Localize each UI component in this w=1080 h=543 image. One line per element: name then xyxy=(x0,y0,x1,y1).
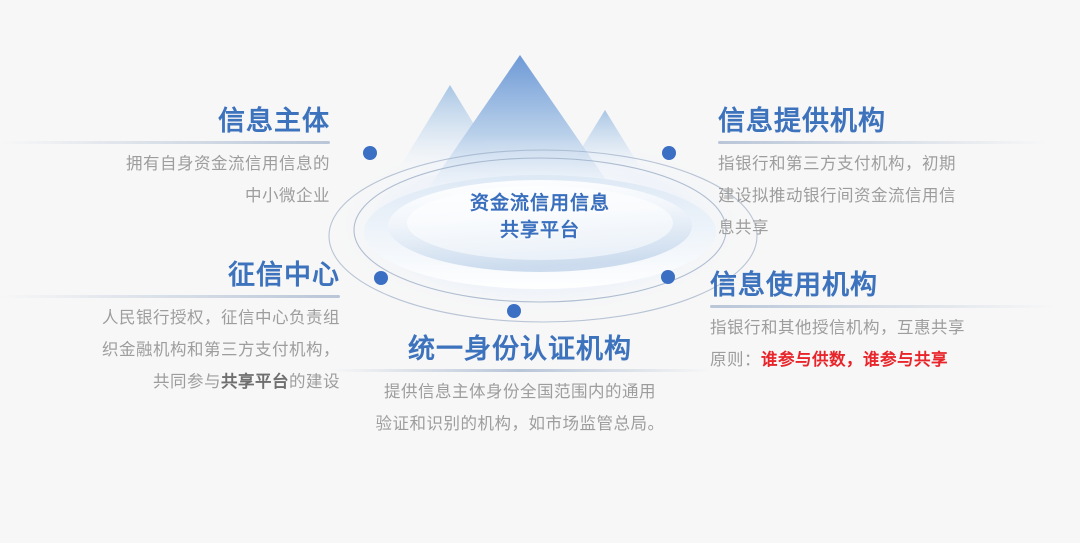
title-underline xyxy=(718,141,1048,144)
platform-title-line1: 资金流信用信息 xyxy=(300,190,780,217)
title-underline xyxy=(330,369,710,372)
desc-line: 人民银行授权，征信中心负责组 xyxy=(0,302,340,334)
block-unified-identity-authentication: 统一身份认证机构 提供信息主体身份全国范围内的通用 验证和识别的机构，如市场监管… xyxy=(330,332,710,440)
title-underline xyxy=(0,141,330,144)
desc-line: 提供信息主体身份全国范围内的通用 xyxy=(330,376,710,408)
desc-highlight: 谁参与供数，谁参与共享 xyxy=(761,350,948,369)
title-underline xyxy=(0,295,340,298)
block-description-unified-identity-authentication: 提供信息主体身份全国范围内的通用 验证和识别的机构，如市场监管总局。 xyxy=(330,376,710,440)
desc-line: 指银行和其他授信机构，互惠共享 xyxy=(710,312,1055,344)
block-description-credit-reference-center: 人民银行授权，征信中心负责组 织金融机构和第三方支付机构， 共同参与共享平台的建… xyxy=(0,302,340,398)
block-information-user: 信息使用机构 指银行和其他授信机构，互惠共享 原则：谁参与供数，谁参与共享 xyxy=(710,268,1055,376)
desc-line: 验证和识别的机构，如市场监管总局。 xyxy=(330,408,710,440)
desc-line: 织金融机构和第三方支付机构， xyxy=(0,334,340,366)
desc-line: 拥有自身资金流信用信息的 xyxy=(0,148,330,180)
block-title-information-user: 信息使用机构 xyxy=(710,268,1055,302)
block-credit-reference-center: 征信中心 人民银行授权，征信中心负责组 织金融机构和第三方支付机构， 共同参与共… xyxy=(0,258,340,398)
block-title-unified-identity-authentication: 统一身份认证机构 xyxy=(330,332,710,366)
platform-title: 资金流信用信息 共享平台 xyxy=(300,190,780,244)
desc-text: 共同参与 xyxy=(153,372,221,391)
desc-line: 共同参与共享平台的建设 xyxy=(0,366,340,398)
title-underline xyxy=(710,305,1055,308)
block-title-information-provider: 信息提供机构 xyxy=(718,104,1048,138)
desc-line: 中小微企业 xyxy=(0,180,330,212)
infographic-canvas: 资金流信用信息 共享平台 信息主体 拥有自身资金流信用信息的 中小微企业 征信中… xyxy=(0,0,1080,543)
block-title-information-subject: 信息主体 xyxy=(0,104,330,138)
desc-text: 原则： xyxy=(710,350,761,369)
desc-line: 原则：谁参与供数，谁参与共享 xyxy=(710,344,1055,376)
block-title-credit-reference-center: 征信中心 xyxy=(0,258,340,292)
platform-title-line2: 共享平台 xyxy=(300,217,780,244)
block-description-information-user: 指银行和其他授信机构，互惠共享 原则：谁参与供数，谁参与共享 xyxy=(710,312,1055,376)
central-platform-illustration: 资金流信用信息 共享平台 xyxy=(300,40,780,340)
desc-line: 指银行和第三方支付机构，初期 xyxy=(718,148,1048,180)
block-information-subject: 信息主体 拥有自身资金流信用信息的 中小微企业 xyxy=(0,104,330,212)
block-description-information-subject: 拥有自身资金流信用信息的 中小微企业 xyxy=(0,148,330,212)
desc-emphasis: 共享平台 xyxy=(221,372,289,391)
